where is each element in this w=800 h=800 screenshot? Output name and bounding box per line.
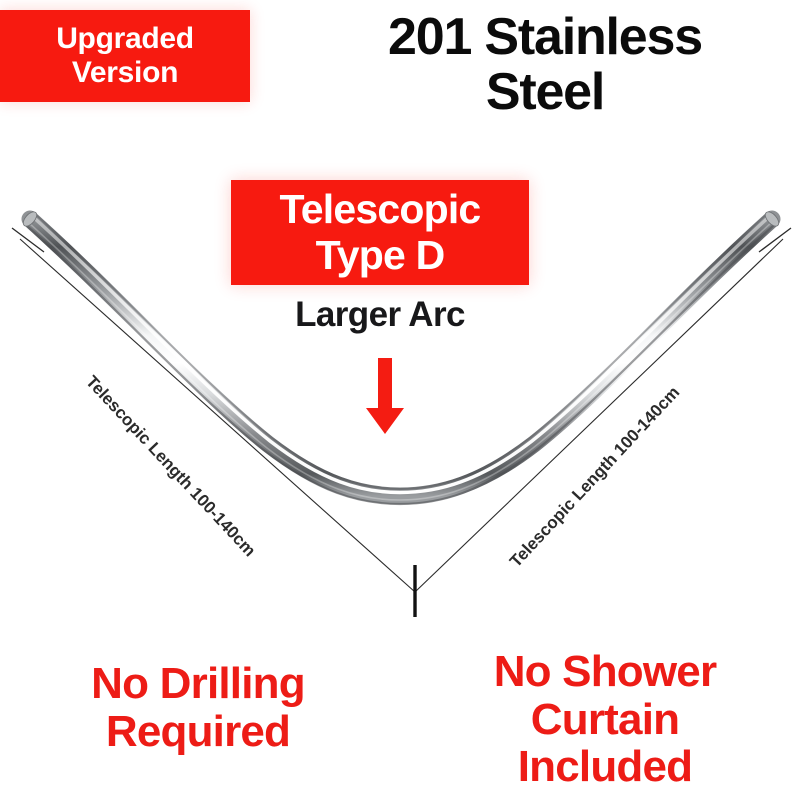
down-arrow-icon	[366, 358, 404, 434]
no-curtain-callout: No Shower Curtain Included	[416, 648, 794, 791]
badge-line-1: Upgraded	[56, 22, 194, 56]
product-marketing-image: Upgraded Version 201 Stainless Steel Tel…	[0, 0, 800, 800]
telescopic-type-banner: Telescopic Type D	[231, 180, 529, 285]
no-curtain-line-1: No Shower	[416, 648, 794, 696]
no-curtain-line-2: Curtain	[416, 696, 794, 744]
badge-line-2: Version	[72, 56, 178, 90]
upgraded-version-badge: Upgraded Version	[0, 10, 250, 102]
headline-line-1: 201 Stainless	[300, 10, 790, 65]
no-curtain-line-3: Included	[416, 743, 794, 791]
type-banner-line-1: Telescopic	[280, 187, 481, 233]
page-title: 201 Stainless Steel	[300, 10, 790, 120]
no-drilling-callout: No Drilling Required	[8, 660, 388, 755]
headline-line-2: Steel	[300, 65, 790, 120]
type-banner-line-2: Type D	[316, 233, 445, 279]
no-drilling-line-1: No Drilling	[8, 660, 388, 708]
larger-arc-label: Larger Arc	[231, 295, 529, 335]
no-drilling-line-2: Required	[8, 708, 388, 756]
